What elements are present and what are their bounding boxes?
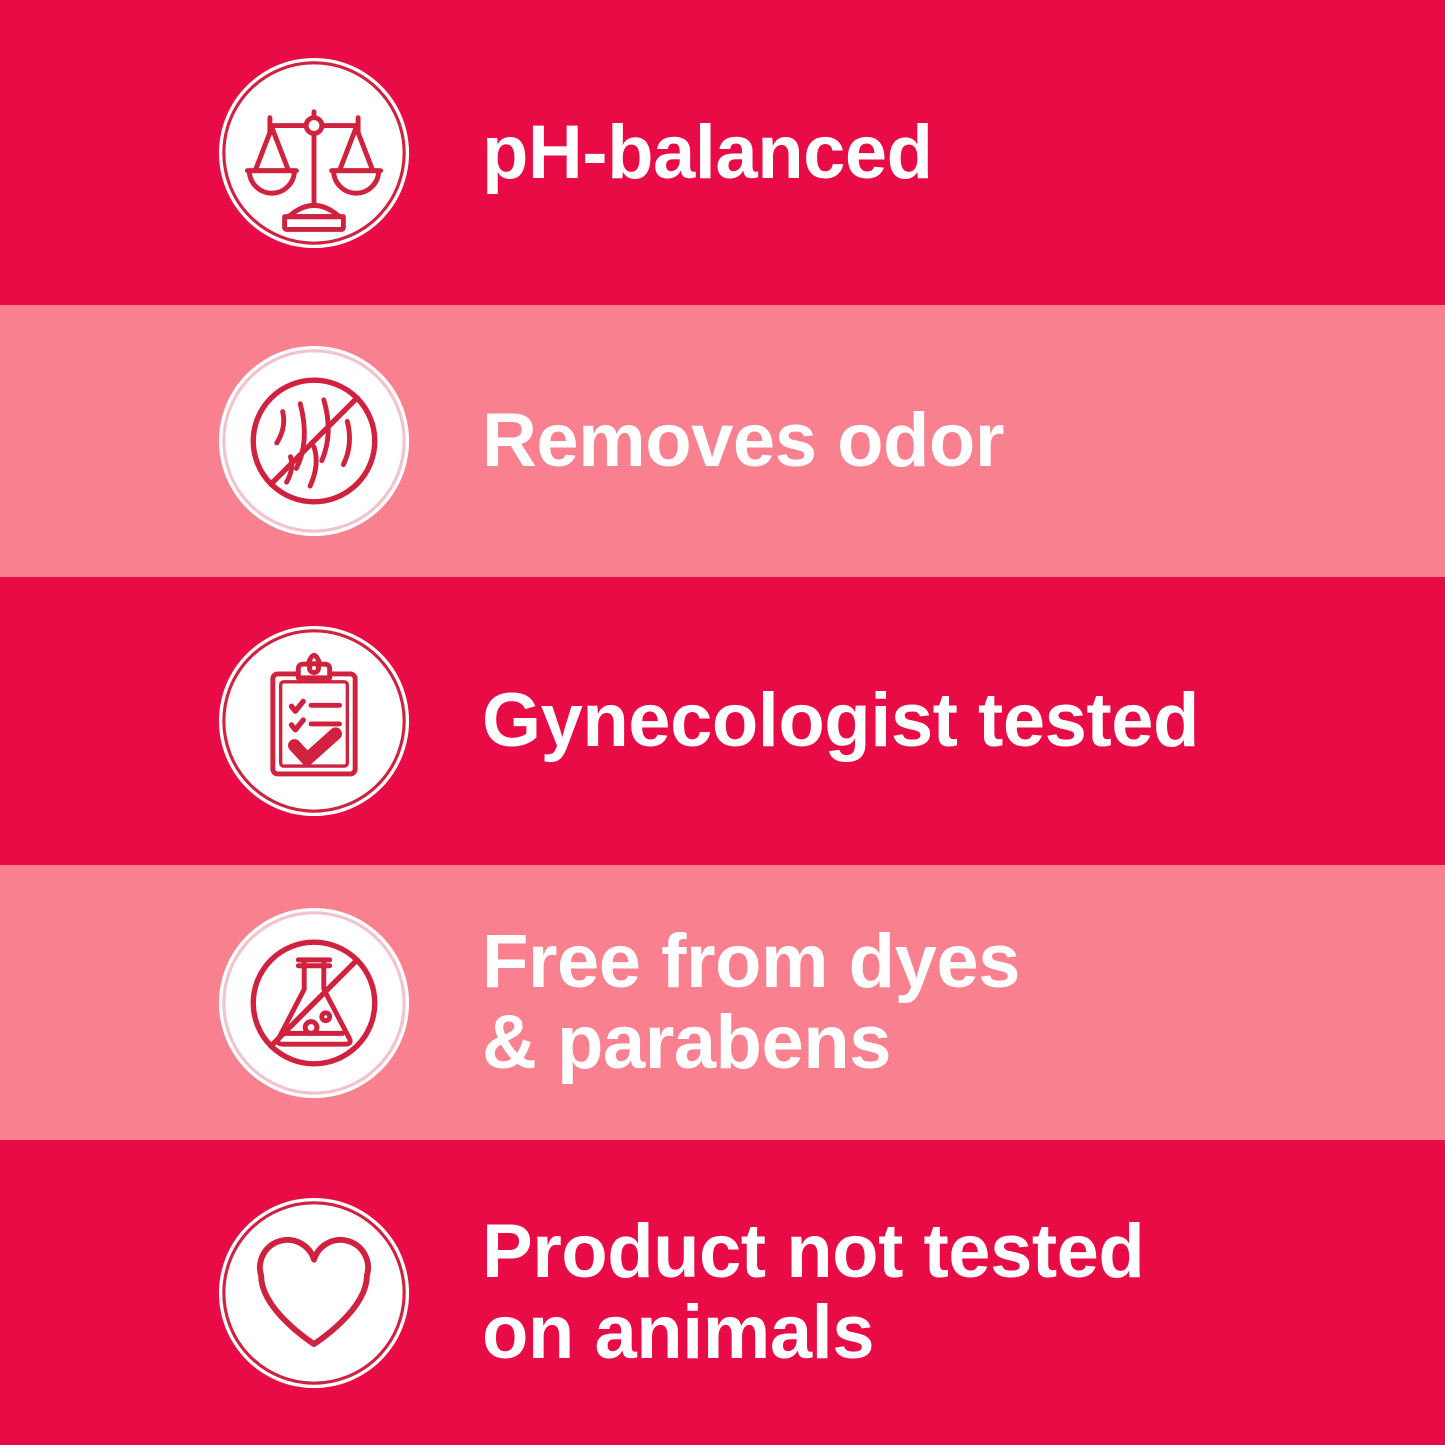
feature-band-ph-balanced: pH-balanced [0, 0, 1445, 305]
clipboard-checklist-icon [216, 623, 412, 819]
no-chemicals-flask-icon [216, 905, 412, 1101]
feature-infographic: pH-balanced [0, 0, 1445, 1445]
feature-label-ph-balanced: pH-balanced [482, 112, 933, 193]
feature-label-removes-odor: Removes odor [482, 400, 1004, 481]
feature-band-free-from-dyes-parabens: Free from dyes & parabens [0, 865, 1445, 1140]
no-odor-icon [216, 343, 412, 539]
feature-band-not-tested-on-animals: Product not tested on animals [0, 1140, 1445, 1445]
feature-label-gynecologist-tested: Gynecologist tested [482, 680, 1199, 761]
feature-label-not-tested-on-animals: Product not tested on animals [482, 1212, 1144, 1373]
heart-icon [216, 1195, 412, 1391]
balance-scale-icon [216, 55, 412, 251]
feature-band-gynecologist-tested: Gynecologist tested [0, 577, 1445, 865]
feature-label-free-from-dyes-parabens: Free from dyes & parabens [482, 922, 1020, 1083]
feature-band-removes-odor: Removes odor [0, 305, 1445, 577]
